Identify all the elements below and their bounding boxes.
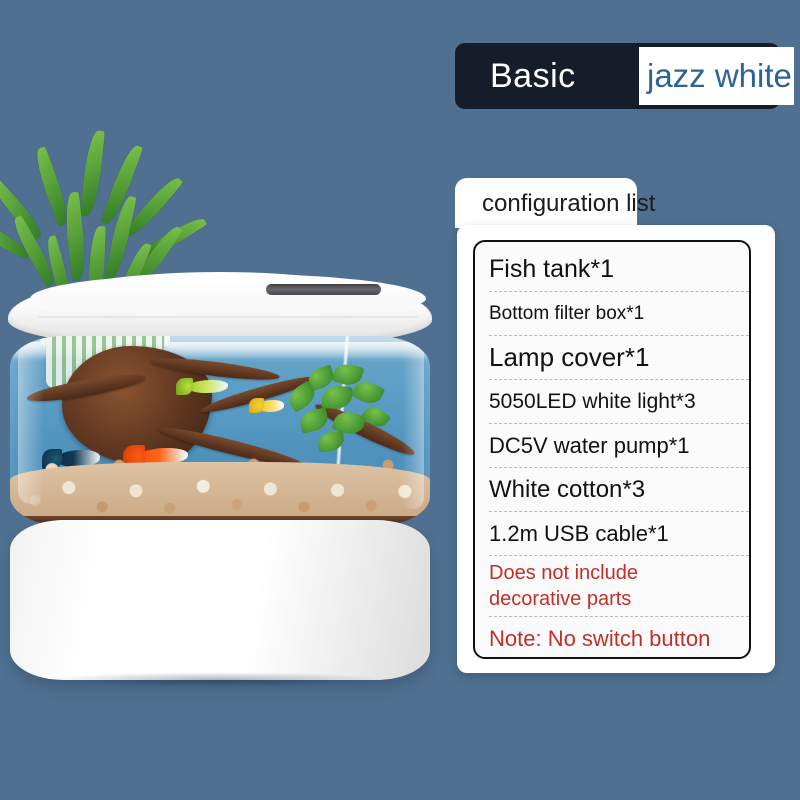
configuration-list-item: Does not include decorative parts (489, 556, 749, 617)
configuration-list-tab-label: configuration list (482, 190, 655, 218)
configuration-list-item: Note: No switch button (489, 617, 749, 659)
glass-reflection-right (402, 344, 424, 509)
tank-glass-body (10, 336, 430, 526)
configuration-list-box: Fish tank*1Bottom filter box*1Lamp cover… (473, 240, 751, 659)
variant-badge-label: jazz white (639, 57, 792, 95)
configuration-list-item: 5050LED white light*3 (489, 380, 749, 424)
lid-seam (38, 316, 418, 318)
product-drop-shadow (44, 672, 394, 688)
screenshot-root: Basic jazz white configuration list Fish… (0, 0, 800, 800)
basic-banner-title: Basic (455, 57, 576, 96)
lid-vent-slot (266, 284, 381, 295)
configuration-list-item: DC5V water pump*1 (489, 424, 749, 468)
lid-top-surface (30, 274, 426, 318)
product-photo-aquarium (0, 120, 440, 720)
glass-reflection-left (18, 344, 44, 504)
configuration-list-item: Lamp cover*1 (489, 336, 749, 380)
configuration-list-item: Fish tank*1 (489, 248, 749, 292)
configuration-list-item: Bottom filter box*1 (489, 292, 749, 336)
configuration-list-item: 1.2m USB cable*1 (489, 512, 749, 556)
in-tank-plant (278, 362, 398, 458)
variant-badge: jazz white (639, 47, 794, 105)
configuration-list-item: White cotton*3 (489, 468, 749, 512)
tank-white-base (10, 520, 430, 680)
configuration-list: Fish tank*1Bottom filter box*1Lamp cover… (475, 248, 749, 659)
